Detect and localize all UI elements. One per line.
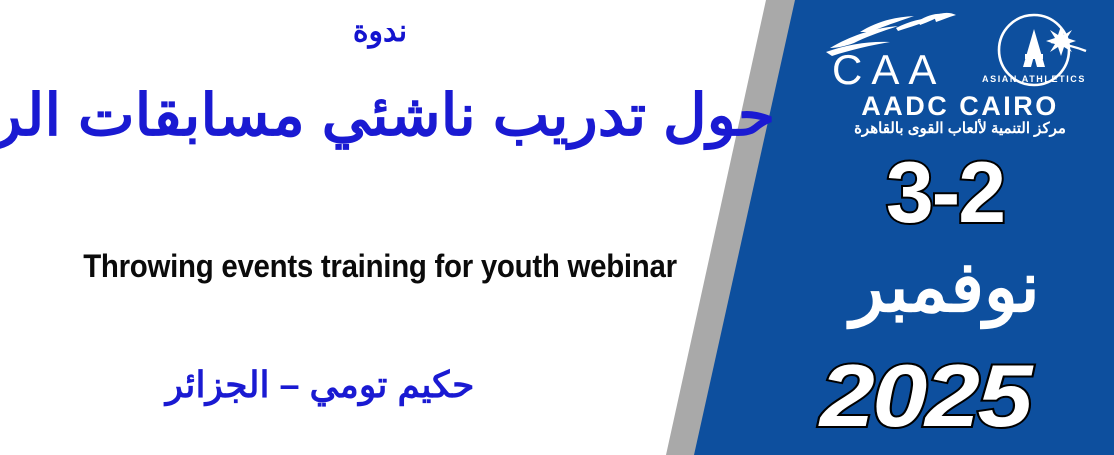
speaker-name: حكيم تومي – الجزائر xyxy=(0,364,640,406)
webinar-poster: ندوة حول تدريب ناشئي مسابقات الرمي Throw… xyxy=(0,0,1114,455)
center-name-arabic: مركز التنمية لألعاب القوى بالقاهرة xyxy=(818,121,1102,138)
poster-left-content: ندوة حول تدريب ناشئي مسابقات الرمي Throw… xyxy=(0,0,760,455)
caa-acronym-text: CAA xyxy=(832,46,945,93)
date-year: 2025 xyxy=(740,352,1110,440)
asian-athletics-badge: ASIAN ATHLETICS xyxy=(982,15,1086,85)
asian-athletics-label: ASIAN ATHLETICS xyxy=(982,74,1086,84)
caa-logo-block: CAA ASIAN ATHLETICS AADC CAIRO مركز التن… xyxy=(818,12,1102,138)
headline-arabic: حول تدريب ناشئي مسابقات الرمي xyxy=(0,86,775,147)
date-month: نوفمبر xyxy=(795,252,1095,322)
caa-logo-mark: CAA ASIAN ATHLETICS xyxy=(818,12,1102,94)
date-days: 3-2 xyxy=(795,150,1095,236)
starburst-icon xyxy=(1046,26,1076,56)
center-name: AADC CAIRO xyxy=(818,92,1102,120)
subtitle-english: Throwing events training for youth webin… xyxy=(30,248,729,285)
kicker-text: ندوة xyxy=(0,14,760,49)
